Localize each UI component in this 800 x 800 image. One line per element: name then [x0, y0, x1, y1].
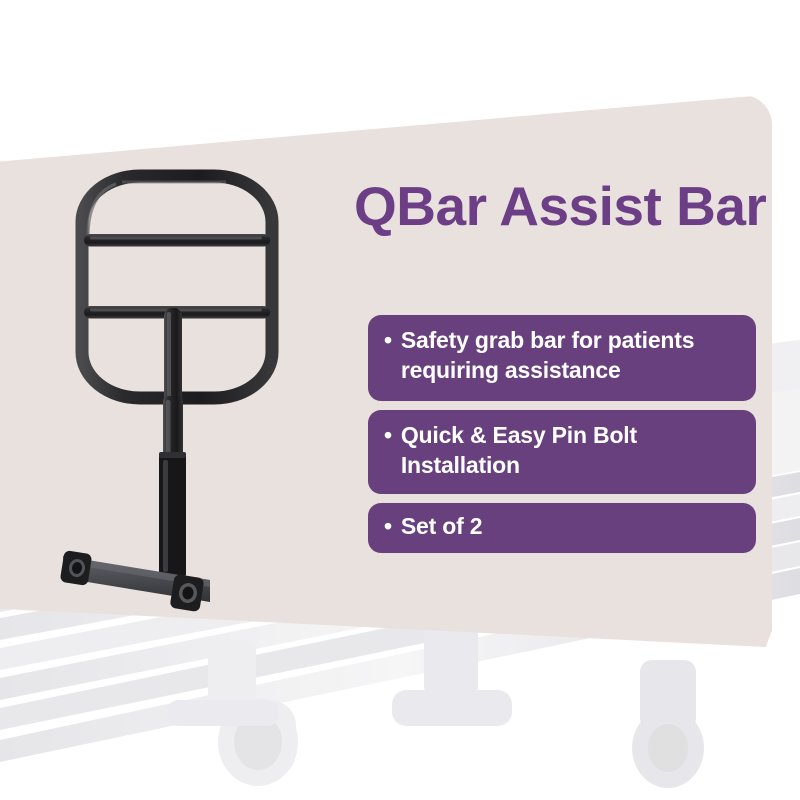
assist-bar-sleeve: [159, 452, 186, 577]
product-marketing-image: QBar Assist Bar • Safety grab bar for pa…: [0, 0, 800, 800]
feature-item: • Set of 2: [368, 503, 756, 553]
bullet-dot-icon: •: [384, 421, 392, 451]
assist-bar-mounting-bracket: [60, 550, 210, 612]
assist-bar-product-image: [60, 160, 320, 660]
feature-text: Set of 2: [401, 512, 740, 542]
bullet-dot-icon: •: [384, 326, 392, 356]
bullet-dot-icon: •: [384, 512, 392, 542]
feature-list: • Safety grab bar for patients requiring…: [368, 315, 756, 553]
feature-item: • Safety grab bar for patients requiring…: [368, 315, 756, 401]
feature-text: Quick & Easy Pin Bolt Installation: [401, 421, 740, 481]
feature-text: Safety grab bar for patients requiring a…: [401, 326, 740, 386]
feature-item: • Quick & Easy Pin Bolt Installation: [368, 410, 756, 494]
product-title: QBar Assist Bar: [354, 179, 784, 234]
assist-bar-crossbar-upper: [84, 234, 270, 247]
